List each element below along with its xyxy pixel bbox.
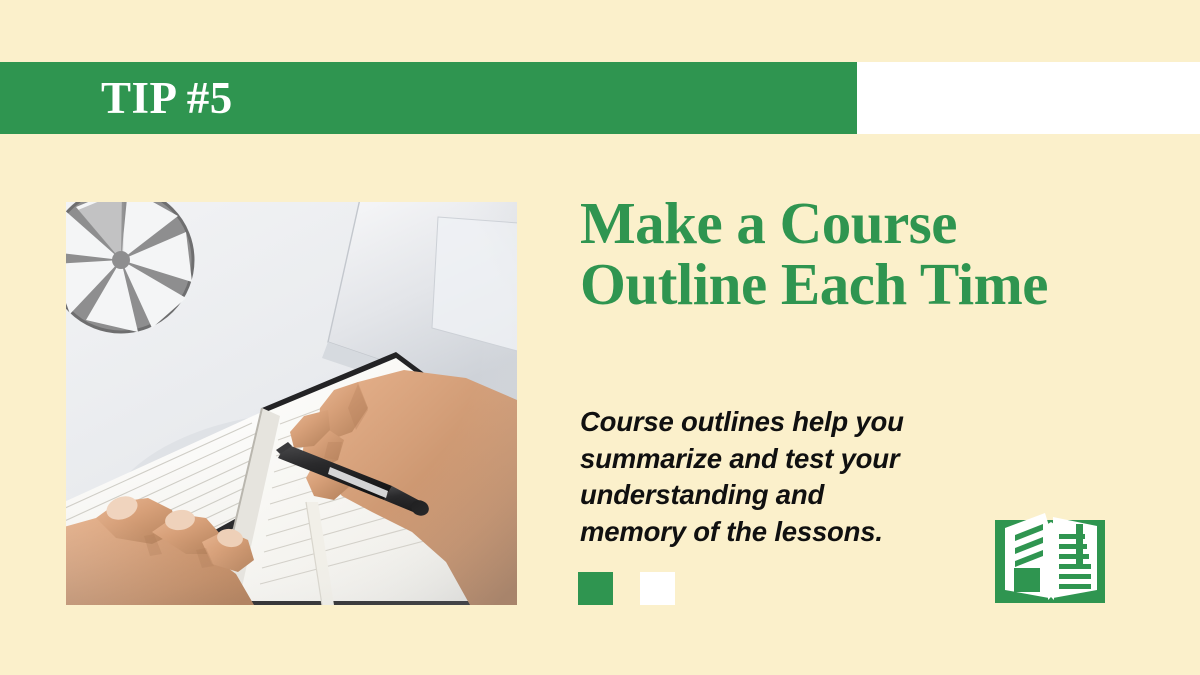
heading-line-2: Outline Each Time <box>580 254 1140 315</box>
tip-number-label: TIP #5 <box>101 62 233 134</box>
body-line-4: memory of the lessons. <box>580 514 1000 551</box>
white-swatch <box>640 572 675 605</box>
body-line-1: Course outlines help you <box>580 404 1000 441</box>
hands-writing-in-notebook-photo <box>66 202 517 605</box>
slide-heading: Make a Course Outline Each Time <box>580 193 1140 316</box>
heading-line-1: Make a Course <box>580 193 1140 254</box>
body-line-2: summarize and test your <box>580 441 1000 478</box>
open-book-icon <box>993 502 1107 605</box>
slide-canvas: TIP #5 <box>0 0 1200 675</box>
slide-body-text: Course outlines help you summarize and t… <box>580 404 1000 550</box>
green-swatch <box>578 572 613 605</box>
body-line-3: understanding and <box>580 477 1000 514</box>
